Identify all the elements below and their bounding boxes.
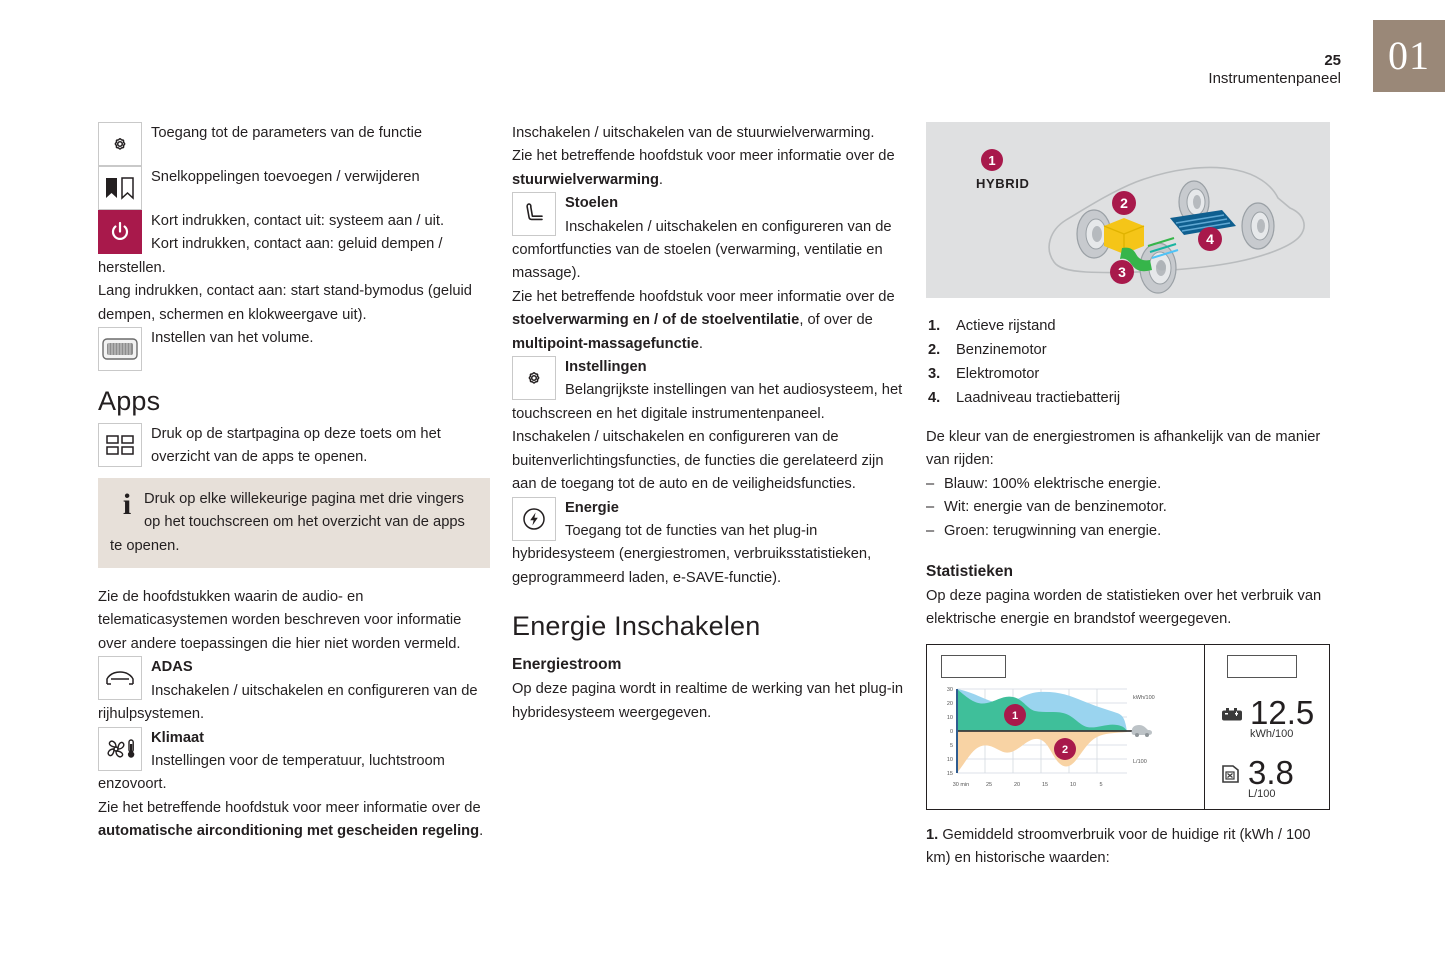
svg-text:25: 25 (986, 782, 992, 788)
svg-text:10: 10 (947, 715, 953, 721)
dash-marker: – (926, 473, 934, 496)
row-parameters-text: Toegang tot de parameters van de functie (98, 122, 490, 145)
row-parameters: Toegang tot de parameters van de functie (98, 122, 490, 166)
electric-value: 12.5 (1250, 697, 1314, 728)
audio-telematics-note: Zie de hoofdstukken waarin de audio- en … (98, 586, 490, 656)
legend-number: 1. (928, 314, 940, 338)
flow-color-label: Blauw: 100% elektrische energie. (944, 476, 1161, 492)
dash-marker: – (926, 496, 934, 519)
statistics-screen: 30 20 10 0 5 10 15 30 min 25 20 15 (926, 644, 1330, 810)
st-pre: Zie het betreffende hoofdstuk voor meer … (512, 289, 895, 305)
statistieken-text: Op deze pagina worden de statistieken ov… (926, 585, 1336, 632)
energie-title: Energie (512, 497, 904, 520)
statistics-chart-panel: 30 20 10 0 5 10 15 30 min 25 20 15 (927, 645, 1205, 809)
column-middle: Inschakelen / uitschakelen van de stuurw… (512, 122, 904, 871)
svg-text:30 min: 30 min (953, 782, 970, 788)
energiestroom-text: Op deze pagina wordt in realtime de werk… (512, 678, 904, 725)
fuel-canister-icon (1221, 757, 1248, 790)
svg-text:15: 15 (1042, 782, 1048, 788)
volume-knob-icon (98, 327, 142, 371)
svg-text:kWh/100: kWh/100 (1133, 695, 1155, 701)
klimaat-more-pre: Zie het betreffende hoofdstuk voor meer … (98, 800, 481, 816)
instellingen-title: Instellingen (512, 356, 904, 379)
row-power-line1: Kort indrukken, contact uit: systeem aan… (98, 210, 490, 233)
legend-label: Benzinemotor (956, 342, 1047, 358)
statistics-footnote: 1. Gemiddeld stroomverbruik voor de huid… (926, 824, 1336, 871)
klimaat-title: Klimaat (98, 727, 490, 750)
energiestroom-subheading: Energiestroom (512, 654, 904, 676)
footnote-text: Gemiddeld stroomverbruik voor de huidige… (926, 827, 1311, 866)
stoelen-text: Inschakelen / uitschakelen en configurer… (512, 216, 904, 286)
svg-text:0: 0 (950, 729, 953, 735)
legend-label: Actieve rijstand (956, 318, 1056, 334)
apps-grid-icon (98, 423, 142, 467)
svg-text:3: 3 (1118, 264, 1126, 280)
energy-flow-intro: De kleur van de energiestromen is afhank… (926, 426, 1336, 473)
klimaat-more-post: . (479, 823, 483, 839)
electric-consumption-row: 12.5 kWh/100 (1221, 697, 1314, 741)
swh-post: . (659, 172, 663, 188)
flow-color-item: –Blauw: 100% elektrische energie. (926, 473, 1336, 496)
footnote-number: 1. (926, 827, 938, 843)
statistieken-heading: Statistieken (926, 561, 1336, 583)
apps-heading: Apps (98, 385, 490, 417)
stoelen-more-info: Zie het betreffende hoofdstuk voor meer … (512, 286, 904, 356)
st-bold2: multipoint-massagefunctie (512, 336, 699, 352)
energy-bolt-icon (512, 497, 556, 541)
row-adas: ADAS Inschakelen / uitschakelen en confi… (98, 656, 490, 726)
klimaat-more-info: Zie het betreffende hoofdstuk voor meer … (98, 797, 490, 844)
row-stoelen: Stoelen Inschakelen / uitschakelen en co… (512, 192, 904, 286)
legend-item: 1.Actieve rijstand (926, 314, 1336, 338)
st-post: . (699, 336, 703, 352)
page-header: 25 Instrumentenpaneel (1208, 52, 1341, 88)
row-apps-text: Druk op de startpagina op deze toets om … (98, 423, 490, 470)
legend-number: 3. (928, 362, 940, 386)
svg-text:1: 1 (1012, 710, 1018, 722)
row-power: Kort indrukken, contact uit: systeem aan… (98, 210, 490, 257)
svg-text:30: 30 (947, 687, 953, 693)
page-columns: Toegang tot de parameters van de functie… (98, 122, 1338, 871)
steering-wheel-more-info: Zie het betreffende hoofdstuk voor meer … (512, 145, 904, 192)
klimaat-more-bold: automatische airconditioning met geschei… (98, 823, 479, 839)
stoelen-title: Stoelen (512, 192, 904, 215)
energy-consumption-chart: 30 20 10 0 5 10 15 30 min 25 20 15 (927, 679, 1204, 809)
row-klimaat: Klimaat Instellingen voor de temperatuur… (98, 727, 490, 797)
row-instellingen: Instellingen Belangrijkste instellingen … (512, 356, 904, 426)
svg-text:L/100: L/100 (1133, 759, 1147, 765)
svg-text:10: 10 (1070, 782, 1076, 788)
fan-thermometer-icon (98, 727, 142, 771)
svg-text:2: 2 (1062, 744, 1068, 756)
gear-icon (512, 356, 556, 400)
dash-marker: – (926, 520, 934, 543)
svg-text:20: 20 (1014, 782, 1020, 788)
battery-icon (1221, 697, 1250, 727)
flow-color-label: Groen: terugwinning van energie. (944, 523, 1161, 539)
svg-text:15: 15 (947, 771, 953, 777)
svg-text:10: 10 (947, 757, 953, 763)
legend-number: 2. (928, 338, 940, 362)
figure-legend: 1.Actieve rijstand 2.Benzinemotor 3.Elek… (926, 314, 1336, 410)
svg-text:2: 2 (1120, 195, 1128, 211)
bookmark-add-remove-icon (98, 166, 142, 210)
chapter-tab: 01 (1373, 20, 1445, 92)
instellingen-more: Inschakelen / uitschakelen en configurer… (512, 426, 904, 496)
svg-text:20: 20 (947, 701, 953, 707)
svg-text:4: 4 (1206, 231, 1214, 247)
gear-icon (98, 122, 142, 166)
row-power-line2: Kort indrukken, contact aan: geluid demp… (98, 233, 490, 256)
row-volume-text: Instellen van het volume. (98, 327, 490, 350)
legend-number: 4. (928, 386, 940, 410)
flow-color-label: Wit: energie van de benzinemotor. (944, 499, 1167, 515)
statistics-values-panel: 12.5 kWh/100 3.8 L/100 (1205, 645, 1329, 809)
car-front-icon (98, 656, 142, 700)
fuel-consumption-row: 3.8 L/100 (1221, 757, 1294, 801)
st-mid: , of over de (799, 312, 872, 328)
chart-title-field (941, 655, 1006, 678)
power-continuation: herstellen. (98, 257, 490, 280)
energie-inschakelen-heading: Energie Inschakelen (512, 610, 904, 642)
legend-label: Elektromotor (956, 366, 1039, 382)
svg-text:5: 5 (1099, 782, 1102, 788)
row-shortcuts: Snelkoppelingen toevoegen / verwijderen (98, 166, 490, 210)
fuel-value: 3.8 (1248, 757, 1294, 788)
info-callout-text: Druk op elke willekeurige pagina met dri… (110, 488, 478, 558)
info-icon: i (110, 488, 144, 520)
hybrid-powertrain-diagram: HYBRID 1 2 3 4 (926, 122, 1330, 298)
chapter-title: Instrumentenpaneel (1208, 69, 1341, 88)
st-bold1: stoelverwarming en / of de stoelventilat… (512, 312, 799, 328)
power-icon (98, 210, 142, 254)
seat-icon (512, 192, 556, 236)
flow-color-item: –Groen: terugwinning van energie. (926, 520, 1336, 543)
row-apps: Druk op de startpagina op deze toets om … (98, 423, 490, 470)
legend-label: Laadniveau tractiebatterij (956, 390, 1120, 406)
legend-item: 2.Benzinemotor (926, 338, 1336, 362)
energie-text: Toegang tot de functies van het plug-in … (512, 520, 904, 590)
row-volume: Instellen van het volume. (98, 327, 490, 371)
svg-text:HYBRID: HYBRID (976, 176, 1029, 191)
svg-text:5: 5 (950, 743, 953, 749)
power-long-press: Lang indrukken, contact aan: start stand… (98, 280, 490, 327)
steering-wheel-heating-text: Inschakelen / uitschakelen van de stuurw… (512, 122, 904, 145)
column-right: HYBRID 1 2 3 4 1.Actieve rijstand 2.Benz… (926, 122, 1336, 871)
values-title-field (1227, 655, 1297, 678)
adas-title: ADAS (98, 656, 490, 679)
row-shortcuts-text: Snelkoppelingen toevoegen / verwijderen (98, 166, 490, 189)
energy-flow-colors: –Blauw: 100% elektrische energie. –Wit: … (926, 473, 1336, 543)
column-left: Toegang tot de parameters van de functie… (98, 122, 490, 871)
klimaat-text: Instellingen voor de temperatuur, luchts… (98, 750, 490, 797)
adas-text: Inschakelen / uitschakelen en configurer… (98, 680, 490, 727)
chapter-tab-number: 01 (1388, 36, 1430, 76)
legend-item: 4.Laadniveau tractiebatterij (926, 386, 1336, 410)
instellingen-text: Belangrijkste instellingen van het audio… (512, 379, 904, 426)
flow-color-item: –Wit: energie van de benzinemotor. (926, 496, 1336, 519)
legend-item: 3.Elektromotor (926, 362, 1336, 386)
swh-pre: Zie het betreffende hoofdstuk voor meer … (512, 148, 895, 164)
swh-bold: stuurwielverwarming (512, 172, 659, 188)
info-callout: i Druk op elke willekeurige pagina met d… (98, 478, 490, 568)
svg-text:1: 1 (988, 153, 995, 168)
page-number: 25 (1208, 52, 1341, 69)
row-energie: Energie Toegang tot de functies van het … (512, 497, 904, 591)
